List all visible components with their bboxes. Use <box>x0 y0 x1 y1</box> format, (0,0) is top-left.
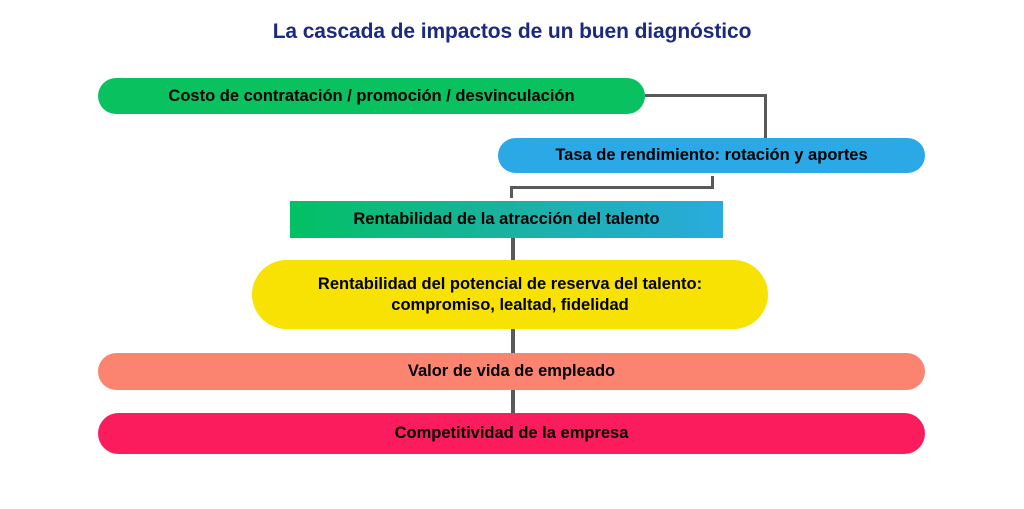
connector-cost-to-rate-horizontal <box>645 94 767 97</box>
connector-rate-to-attraction-right-tick <box>711 176 714 189</box>
page-title: La cascada de impactos de un buen diagnó… <box>0 20 1024 44</box>
connector-attraction-to-reserve <box>511 238 515 261</box>
connector-cost-to-rate-vertical <box>764 94 767 140</box>
cascade-level-talent-reserve[interactable]: Rentabilidad del potencial de reserva de… <box>252 260 768 329</box>
connector-rate-to-attraction-left-tick <box>510 186 513 198</box>
connector-reserve-to-lifetime <box>511 329 515 354</box>
connector-lifetime-to-competitiveness <box>511 390 515 414</box>
cascade-level-cost[interactable]: Costo de contratación / promoción / desv… <box>98 78 645 114</box>
cascade-level-talent-attraction[interactable]: Rentabilidad de la atracción del talento <box>290 201 723 238</box>
diagram-canvas: La cascada de impactos de un buen diagnó… <box>0 0 1024 509</box>
cascade-level-company-competitiveness[interactable]: Competitividad de la empresa <box>98 413 925 454</box>
connector-rate-to-attraction-horizontal <box>510 186 714 189</box>
cascade-level-rate-of-return[interactable]: Tasa de rendimiento: rotación y aportes <box>498 138 925 173</box>
cascade-level-employee-lifetime-value[interactable]: Valor de vida de empleado <box>98 353 925 390</box>
